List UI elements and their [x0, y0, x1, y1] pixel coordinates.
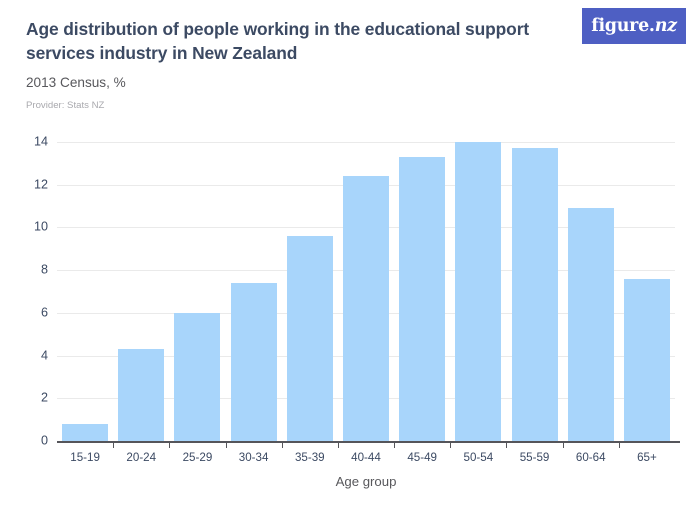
bar-slot [57, 0, 113, 441]
bar[interactable] [174, 313, 220, 441]
bar[interactable] [624, 279, 670, 441]
y-axis: 02468101214 [14, 0, 48, 525]
x-axis-tick [169, 441, 170, 448]
x-axis-tick-label: 60-64 [563, 452, 619, 464]
x-axis-tick [394, 441, 395, 448]
bar-slot [619, 0, 675, 441]
bar-chart: 02468101214 15-1920-2425-2930-3435-3940-… [0, 0, 700, 525]
bar[interactable] [62, 424, 108, 441]
bar-slot [338, 0, 394, 441]
y-axis-tick-label: 6 [14, 307, 48, 320]
chart-page: Age distribution of people working in th… [0, 0, 700, 525]
x-axis-title: Age group [57, 474, 675, 489]
y-axis-tick-label: 8 [14, 264, 48, 277]
x-axis-tick [113, 441, 114, 448]
bar-slot [282, 0, 338, 441]
y-axis-tick-label: 0 [14, 435, 48, 448]
bar-slot [226, 0, 282, 441]
bar[interactable] [287, 236, 333, 441]
bar[interactable] [343, 176, 389, 441]
bar[interactable] [568, 208, 614, 441]
x-axis-tick-label: 45-49 [394, 452, 450, 464]
x-axis-tick-label: 40-44 [338, 452, 394, 464]
x-axis-tick-label: 15-19 [57, 452, 113, 464]
bar-slot [113, 0, 169, 441]
bar-slot [394, 0, 450, 441]
y-axis-tick-label: 14 [14, 136, 48, 149]
bars-group: 15-1920-2425-2930-3435-3940-4445-4950-54… [57, 0, 675, 525]
x-axis-tick-label: 55-59 [506, 452, 562, 464]
x-axis-tick [282, 441, 283, 448]
y-axis-tick-label: 4 [14, 349, 48, 362]
x-axis-tick-label: 20-24 [113, 452, 169, 464]
bar-slot [506, 0, 562, 441]
x-axis-tick-label: 35-39 [282, 452, 338, 464]
x-axis-tick [563, 441, 564, 448]
bar-slot [169, 0, 225, 441]
bar[interactable] [231, 283, 277, 441]
bar[interactable] [399, 157, 445, 441]
x-axis-tick [506, 441, 507, 448]
x-axis-tick-label: 65+ [619, 452, 675, 464]
y-axis-tick-label: 12 [14, 178, 48, 191]
x-axis-tick [338, 441, 339, 448]
x-axis-tick-label: 25-29 [169, 452, 225, 464]
bar-slot [563, 0, 619, 441]
y-axis-tick-label: 10 [14, 221, 48, 234]
bar[interactable] [455, 142, 501, 441]
bar[interactable] [512, 148, 558, 441]
x-axis-tick-label: 30-34 [226, 452, 282, 464]
bar-slot [450, 0, 506, 441]
bar[interactable] [118, 349, 164, 441]
y-axis-tick-label: 2 [14, 392, 48, 405]
x-axis-tick [450, 441, 451, 448]
x-axis-tick [619, 441, 620, 448]
x-axis-tick [226, 441, 227, 448]
x-axis-tick-label: 50-54 [450, 452, 506, 464]
